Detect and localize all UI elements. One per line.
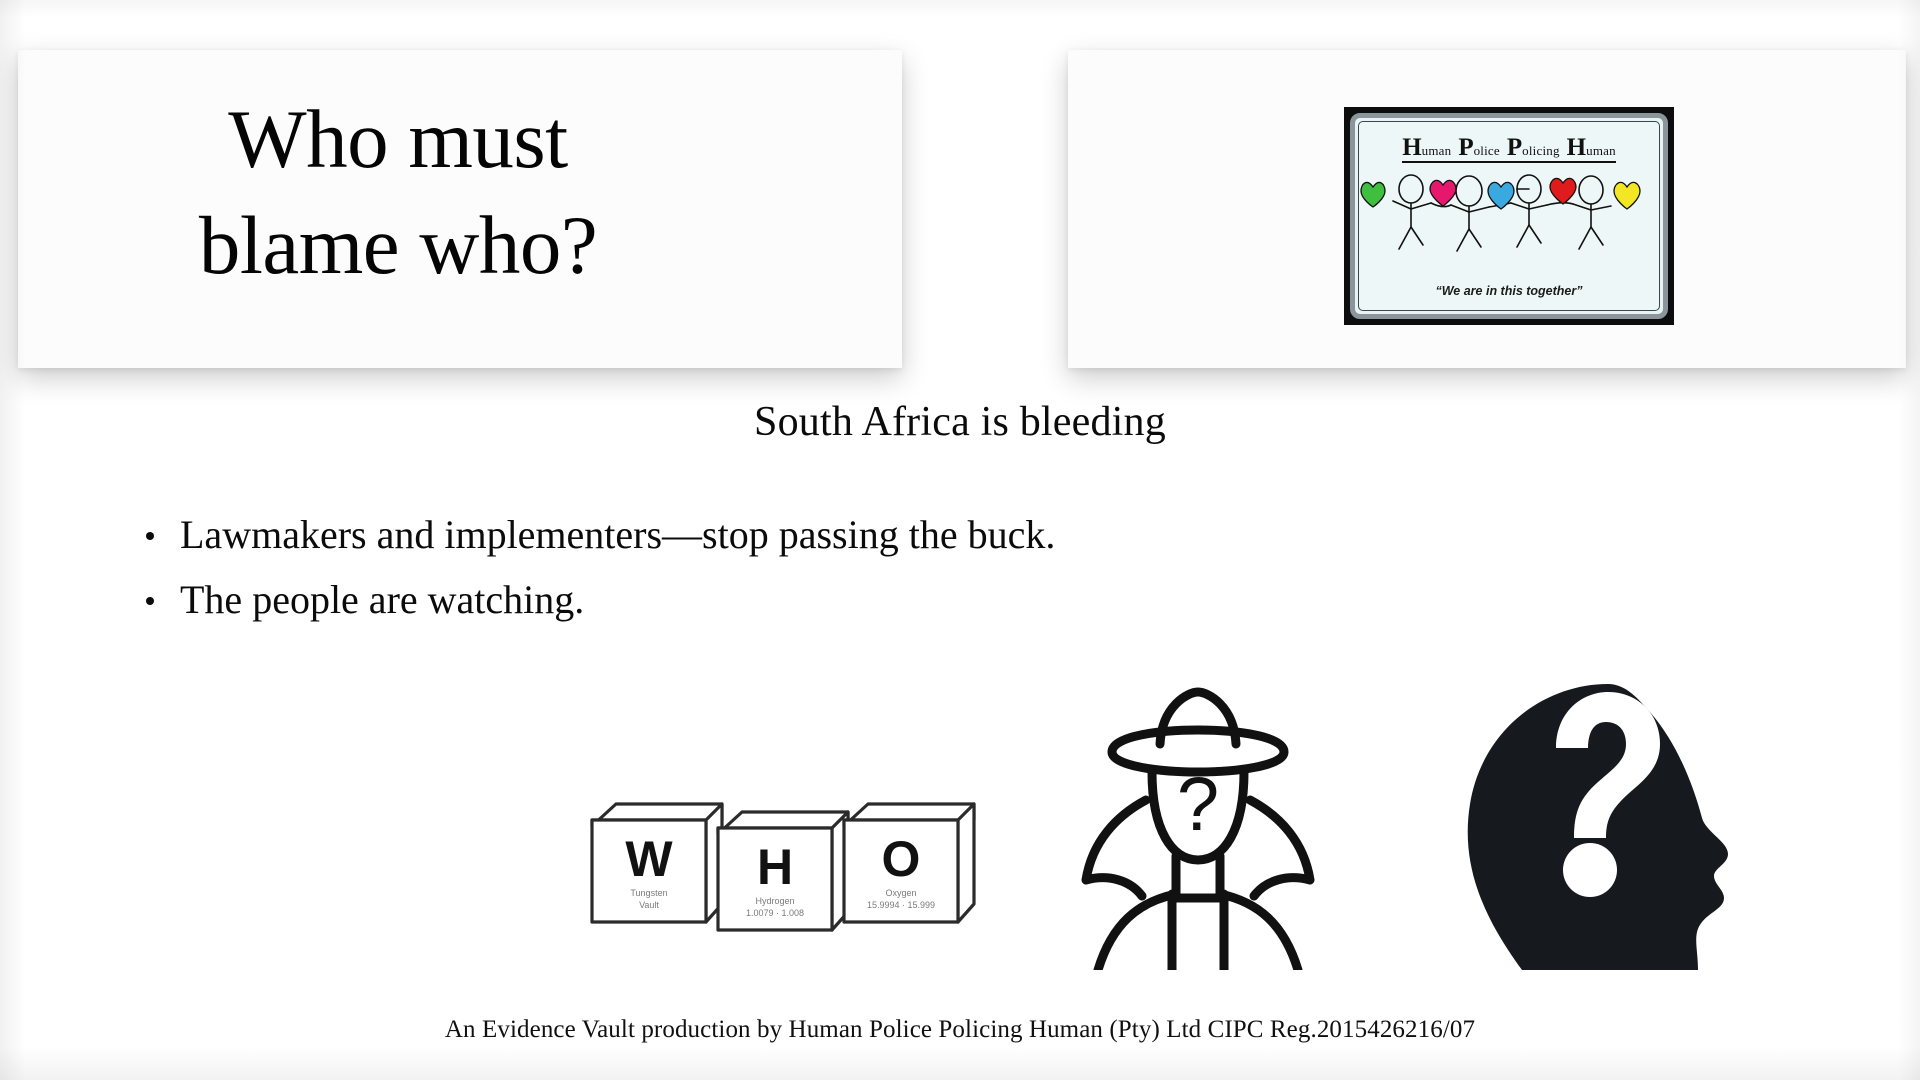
- svg-text:Vault: Vault: [639, 900, 659, 910]
- logo-panel: HumanPolicePolicingHuman: [1068, 50, 1906, 368]
- svg-text:Hydrogen: Hydrogen: [755, 896, 794, 906]
- title-line-1: Who must: [18, 86, 778, 192]
- logo-word-0-rest: uman: [1422, 143, 1452, 158]
- logo-word-2-rest: olicing: [1522, 143, 1560, 158]
- logo-wordmark: HumanPolicePolicingHuman: [1402, 135, 1616, 163]
- block-letter-h: H: [757, 839, 793, 895]
- logo-inner: HumanPolicePolicingHuman: [1358, 121, 1660, 311]
- block-letter-w: W: [625, 831, 673, 887]
- title-panel: Who must blame who?: [18, 50, 902, 368]
- hpph-logo: HumanPolicePolicingHuman: [1344, 107, 1674, 325]
- logo-word-3-cap: H: [1567, 134, 1586, 161]
- footer-credit: An Evidence Vault production by Human Po…: [0, 1016, 1920, 1044]
- head-shape: [1468, 684, 1728, 970]
- svg-text:1.0079 · 1.008: 1.0079 · 1.008: [746, 908, 804, 918]
- list-item: Lawmakers and implementers—stop passing …: [138, 508, 1638, 561]
- list-item: The people are watching.: [138, 573, 1638, 626]
- logo-word-0-cap: H: [1402, 134, 1421, 161]
- page-title: Who must blame who?: [18, 86, 778, 298]
- title-line-2: blame who?: [18, 192, 778, 298]
- stick-figures-graphic: [1359, 169, 1659, 266]
- detective-icon: ?: [1068, 680, 1328, 970]
- bullet-list: Lawmakers and implementers—stop passing …: [138, 508, 1638, 638]
- logo-frame: HumanPolicePolicingHuman: [1350, 113, 1668, 319]
- block-letter-o: O: [882, 831, 921, 887]
- logo-word-1-rest: olice: [1474, 143, 1500, 158]
- head-silhouette-icon: [1448, 682, 1758, 972]
- detective-question-mark: ?: [1177, 762, 1219, 847]
- who-blocks-image: W H O Tungsten Vault Hydrogen 1.0079 · 1…: [586, 782, 986, 932]
- logo-word-1-cap: P: [1458, 134, 1473, 161]
- slide-canvas: Who must blame who? HumanPolicePolicingH…: [0, 0, 1920, 1080]
- svg-text:Oxygen: Oxygen: [885, 888, 916, 898]
- subtitle: South Africa is bleeding: [0, 398, 1920, 446]
- svg-text:Tungsten: Tungsten: [630, 888, 667, 898]
- logo-word-3-rest: uman: [1586, 143, 1616, 158]
- svg-text:15.9994 · 15.999: 15.9994 · 15.999: [867, 900, 935, 910]
- logo-word-2-cap: P: [1507, 134, 1522, 161]
- logo-tagline: “We are in this together”: [1359, 284, 1659, 298]
